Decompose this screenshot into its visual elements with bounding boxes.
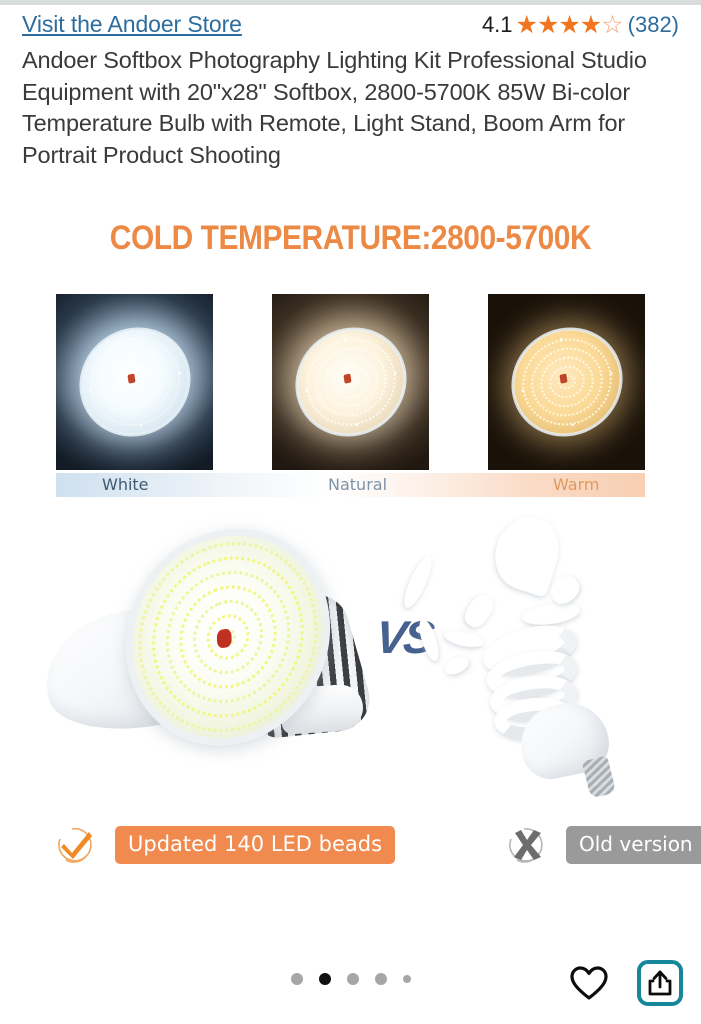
carousel-dot-3[interactable] xyxy=(347,973,359,985)
temperature-label-white: White xyxy=(102,475,149,495)
temperature-gradient-bar: White Natural Warm xyxy=(56,473,645,497)
led-bulb-head xyxy=(101,497,355,778)
heart-icon[interactable] xyxy=(567,961,611,1005)
badge-group-updated: Updated 140 LED beads xyxy=(52,822,395,868)
feature-badges-row: Updated 140 LED beads Old version xyxy=(0,818,701,882)
disc-center-dot xyxy=(127,373,135,383)
product-image-carousel-slide[interactable]: COLD TEMPERATURE:2800-5700K xyxy=(0,190,701,942)
share-icon[interactable] xyxy=(637,960,683,1006)
glass-shard xyxy=(399,553,436,611)
badge-updated-label: Updated 140 LED beads xyxy=(115,826,395,864)
disc-center-dot xyxy=(343,373,351,383)
store-link[interactable]: Visit the Andoer Store xyxy=(22,9,242,39)
disc-center-dot xyxy=(559,373,567,383)
star-filled-icon: ★ xyxy=(580,13,601,38)
cold-temperature-headline: COLD TEMPERATURE:2800-5700K xyxy=(42,218,659,258)
star-empty-icon: ☆ xyxy=(601,13,622,38)
temperature-label-natural: Natural xyxy=(328,475,387,495)
star-filled-icon: ★ xyxy=(516,13,537,38)
led-disc-warm xyxy=(506,320,627,444)
cfl-bulb-illustration xyxy=(400,508,680,798)
led-bulb-illustration xyxy=(45,518,365,788)
bulb-photo-natural xyxy=(272,294,429,470)
glass-shard xyxy=(521,600,581,628)
bulb-photo-warm xyxy=(488,294,645,470)
temperature-photo-white xyxy=(56,294,213,470)
led-disc-neutral xyxy=(290,320,411,444)
status-bar xyxy=(0,0,701,5)
carousel-dot-4[interactable] xyxy=(375,973,387,985)
star-filled-icon: ★ xyxy=(558,13,579,38)
badge-group-old: Old version xyxy=(503,822,701,868)
toolbar-actions xyxy=(567,960,683,1006)
check-mark-icon xyxy=(52,822,98,868)
badge-old-version-label: Old version xyxy=(566,826,701,864)
star-rating-icon[interactable]: ★★★★☆ xyxy=(516,13,623,38)
carousel-dot-5[interactable] xyxy=(403,975,411,983)
led-disc-cool xyxy=(74,320,195,444)
bottom-toolbar xyxy=(0,942,701,1024)
carousel-dot-2[interactable] xyxy=(319,973,331,985)
temperature-label-warm: Warm xyxy=(553,475,599,495)
rating-count[interactable]: (382) xyxy=(628,12,679,38)
glass-shard xyxy=(416,617,443,663)
cfl-screw-cap xyxy=(582,755,616,798)
product-header: Visit the Andoer Store 4.1 ★★★★☆ (382) A… xyxy=(0,9,701,171)
cross-mark-icon xyxy=(503,822,549,868)
carousel-dot-1[interactable] xyxy=(291,973,303,985)
temperature-photo-natural xyxy=(272,294,429,470)
page-title[interactable]: Andoer Softbox Photography Lighting Kit … xyxy=(22,45,662,171)
temperature-photo-row xyxy=(56,294,645,470)
header-top-row: Visit the Andoer Store 4.1 ★★★★☆ (382) xyxy=(22,9,679,43)
glass-shard xyxy=(442,653,472,678)
comparison-scene: VS xyxy=(0,508,701,808)
star-filled-icon: ★ xyxy=(537,13,558,38)
rating-group[interactable]: 4.1 ★★★★☆ (382) xyxy=(482,12,679,38)
product-page: Visit the Andoer Store 4.1 ★★★★☆ (382) A… xyxy=(0,0,701,1024)
temperature-photo-warm xyxy=(488,294,645,470)
bulb-photo-white xyxy=(56,294,213,470)
rating-value: 4.1 xyxy=(482,12,513,38)
